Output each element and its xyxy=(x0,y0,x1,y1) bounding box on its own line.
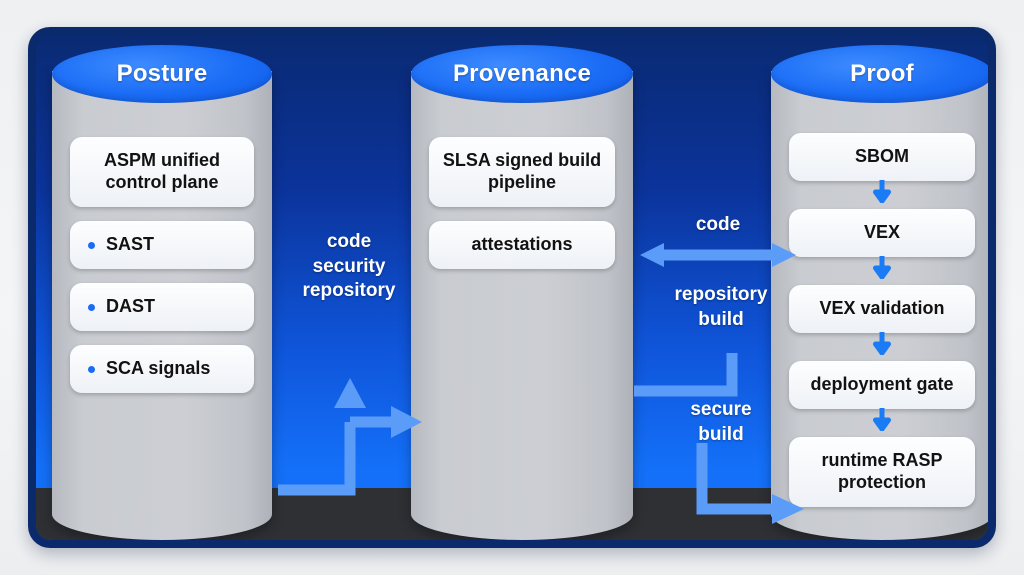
card-attestations[interactable]: attestations xyxy=(429,221,615,269)
bullet-dot-icon xyxy=(88,366,95,373)
arrow-down-icon xyxy=(789,407,975,433)
diagram-frame: Posture ASPM unified control plane SAST … xyxy=(28,27,996,548)
column-items-posture: ASPM unified control plane SAST DAST SCA… xyxy=(52,111,272,407)
column-title-provenance: Provenance xyxy=(411,45,633,103)
cylinder-provenance: Provenance SLSA signed build pipeline at… xyxy=(411,45,633,540)
label-line: repository xyxy=(284,279,414,304)
column-title-proof: Proof xyxy=(771,45,988,103)
connector-elbow-repository-build xyxy=(634,353,754,401)
card-dast[interactable]: DAST xyxy=(70,283,254,331)
connector-label-repository-build: repository build xyxy=(651,283,791,332)
arrow-down-icon xyxy=(789,255,975,281)
diagram-canvas: Posture ASPM unified control plane SAST … xyxy=(0,0,1024,575)
card-slsa-signed-build-pipeline[interactable]: SLSA signed build pipeline xyxy=(429,137,615,207)
card-sast[interactable]: SAST xyxy=(70,221,254,269)
bullet-dot-icon xyxy=(88,304,95,311)
connector-label-code-security-repository: code security repository xyxy=(284,230,414,304)
connector-elbow-secure-build xyxy=(666,443,806,525)
card-vex-validation[interactable]: VEX validation xyxy=(789,285,975,333)
card-sbom[interactable]: SBOM xyxy=(789,133,975,181)
connector-bidirectional-code xyxy=(640,241,796,269)
connector-label-code: code xyxy=(653,213,783,238)
card-vex[interactable]: VEX xyxy=(789,209,975,257)
cylinder-posture: Posture ASPM unified control plane SAST … xyxy=(52,45,272,540)
label-line: code xyxy=(284,230,414,255)
card-label: SCA signals xyxy=(106,358,210,378)
card-sca-signals[interactable]: SCA signals xyxy=(70,345,254,393)
label-line: repository xyxy=(651,283,791,308)
arrow-down-icon xyxy=(789,179,975,205)
bullet-dot-icon xyxy=(88,242,95,249)
label-line: build xyxy=(651,308,791,333)
column-title-posture: Posture xyxy=(52,45,272,103)
label-line: code xyxy=(653,213,783,238)
card-label: DAST xyxy=(106,296,155,316)
card-runtime-rasp-protection[interactable]: runtime RASP protection xyxy=(789,437,975,507)
label-line: security xyxy=(284,255,414,280)
arrow-down-icon xyxy=(789,331,975,357)
card-aspm-unified-control-plane[interactable]: ASPM unified control plane xyxy=(70,137,254,207)
connector-label-secure-build: secure build xyxy=(651,398,791,447)
label-line: secure xyxy=(651,398,791,423)
card-label: SAST xyxy=(106,234,154,254)
diagram-stage: Posture ASPM unified control plane SAST … xyxy=(36,35,988,540)
connector-fork-posture-to-provenance xyxy=(272,310,422,500)
card-deployment-gate[interactable]: deployment gate xyxy=(789,361,975,409)
column-items-provenance: SLSA signed build pipeline attestations xyxy=(411,111,633,283)
